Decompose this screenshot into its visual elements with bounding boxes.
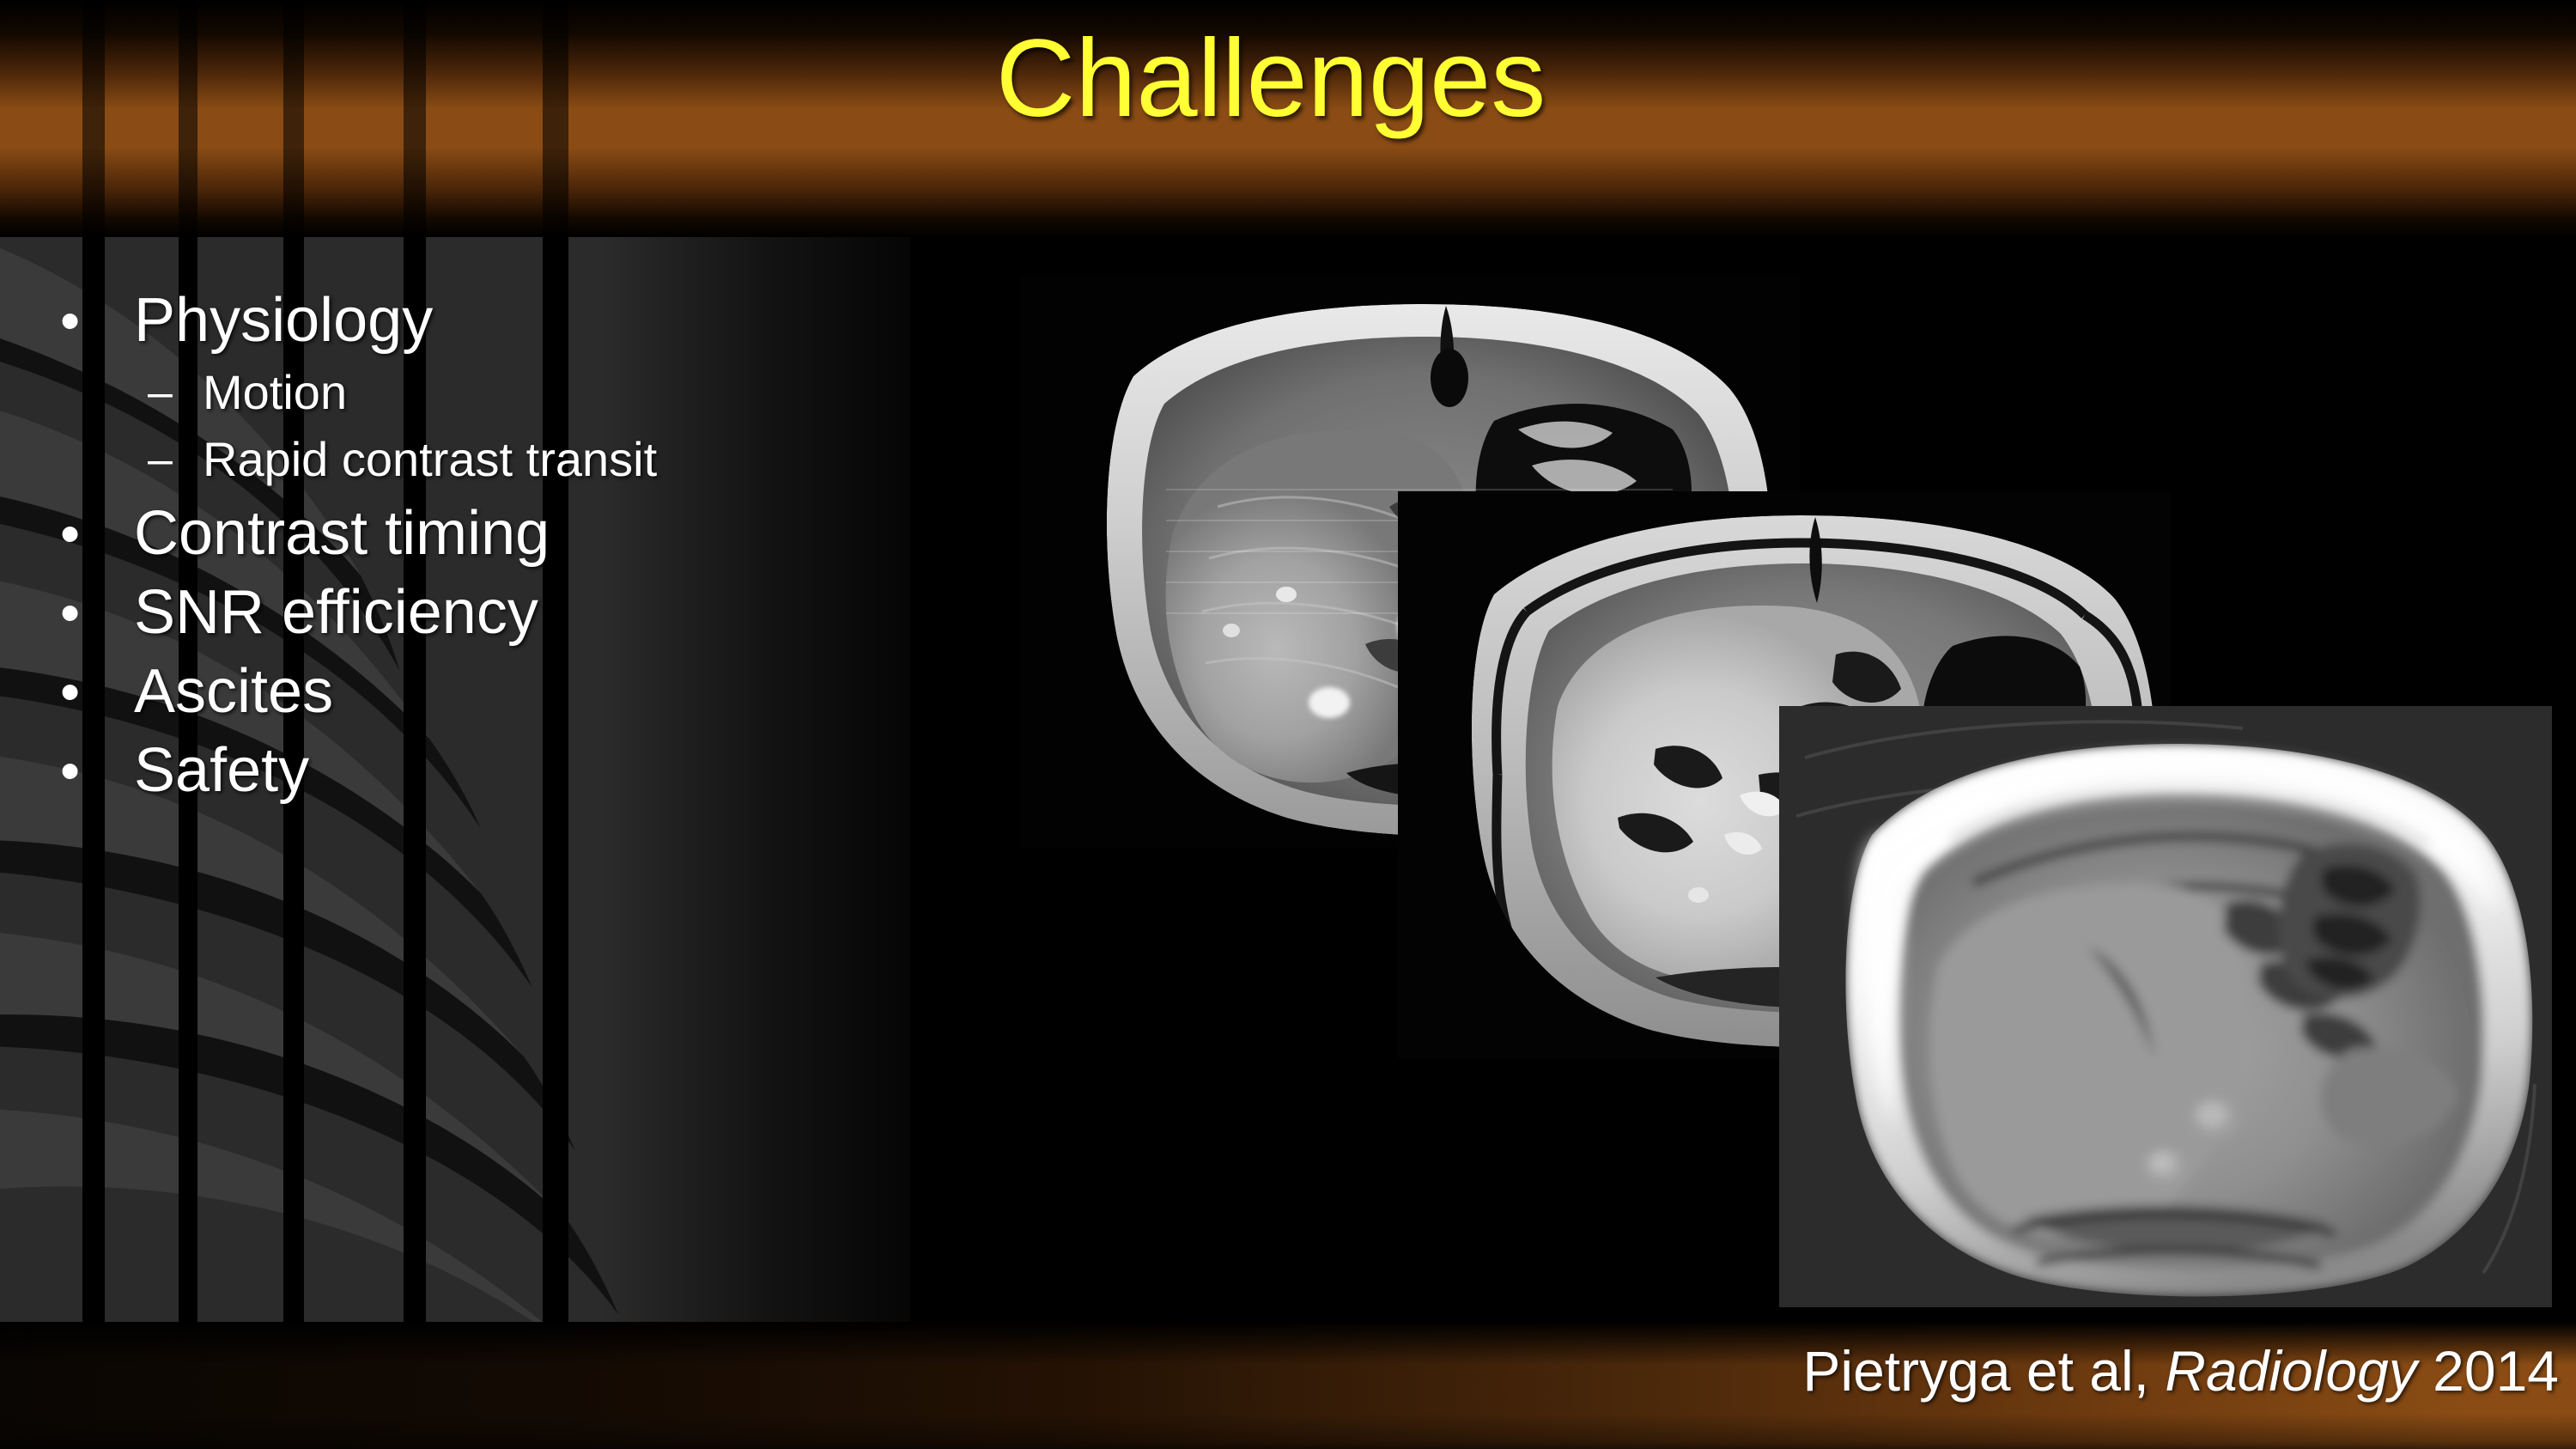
list-item: • Safety — [60, 734, 1073, 807]
slide-canvas: Challenges — [0, 0, 2576, 1449]
list-item: – Rapid contrast transit — [148, 429, 1073, 490]
list-item: • SNR efficiency — [60, 575, 1073, 649]
footer-band: Pietryga et al, Radiology 2014 — [0, 1322, 2576, 1449]
bullet-marker: • — [60, 496, 134, 570]
bullet-label: Safety — [134, 734, 309, 807]
bullet-label: Contrast timing — [134, 496, 550, 570]
citation: Pietryga et al, Radiology 2014 — [1802, 1342, 2559, 1399]
bullet-list: • Physiology – Motion – Rapid contrast t… — [60, 283, 1073, 813]
list-item: • Ascites — [60, 654, 1073, 728]
slide-title: Challenges — [0, 24, 2559, 134]
bullet-marker: – — [148, 362, 203, 423]
citation-journal: Radiology — [2165, 1339, 2417, 1403]
list-item: • Contrast timing — [60, 496, 1073, 570]
bullet-marker: – — [148, 429, 203, 490]
citation-year: 2014 — [2417, 1339, 2559, 1403]
citation-authors: Pietryga et al, — [1802, 1339, 2165, 1403]
list-item: • Physiology — [60, 283, 1073, 357]
mri-axial-abdomen-3 — [1779, 706, 2552, 1307]
bullet-label: Ascites — [134, 654, 333, 728]
bullet-marker: • — [60, 654, 134, 728]
list-item: – Motion — [148, 362, 1073, 423]
bullet-marker: • — [60, 734, 134, 807]
bullet-marker: • — [60, 575, 134, 649]
bullet-label: SNR efficiency — [134, 575, 538, 649]
bullet-label: Motion — [203, 362, 347, 423]
bullet-marker: • — [60, 283, 134, 357]
bullet-label: Rapid contrast transit — [203, 429, 657, 490]
bullet-label: Physiology — [134, 283, 433, 357]
